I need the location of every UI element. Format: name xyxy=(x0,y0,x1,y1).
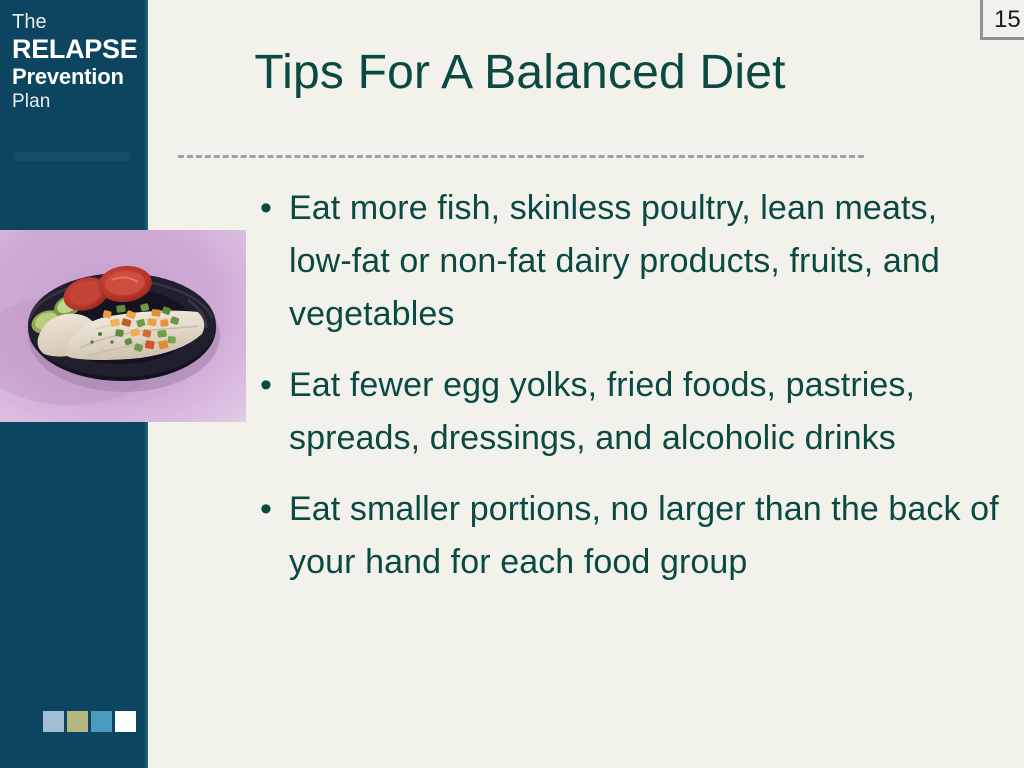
list-item-text: Eat more fish, skinless poultry, lean me… xyxy=(289,182,1000,341)
list-item: • Eat fewer egg yolks, fried foods, past… xyxy=(255,359,1000,465)
swatch-blue xyxy=(91,711,112,732)
slide-number-badge: 15 xyxy=(980,0,1024,40)
list-item: • Eat more fish, skinless poultry, lean … xyxy=(255,182,1000,341)
fish-dinner-photo xyxy=(0,230,246,422)
slide-canvas: The RELAPSE Prevention Plan xyxy=(0,0,1024,768)
logo-line-relapse: RELAPSE xyxy=(12,34,148,64)
logo-line-the: The xyxy=(12,11,148,34)
logo-line-plan: Plan xyxy=(12,90,148,114)
swatch-khaki xyxy=(67,711,88,732)
list-item-text: Eat smaller portions, no larger than the… xyxy=(289,483,1000,589)
slide-number-label: 15 xyxy=(994,6,1021,34)
logo: The RELAPSE Prevention Plan xyxy=(12,11,148,114)
title-divider xyxy=(178,155,864,158)
swatch-white xyxy=(115,711,136,732)
sidebar-accent-band xyxy=(14,152,130,161)
logo-line-prevention: Prevention xyxy=(12,64,148,90)
bullet-marker-icon: • xyxy=(255,483,289,536)
page-title: Tips For A Balanced Diet xyxy=(170,44,870,102)
list-item: • Eat smaller portions, no larger than t… xyxy=(255,483,1000,589)
bullet-list: • Eat more fish, skinless poultry, lean … xyxy=(255,182,1000,607)
bullet-marker-icon: • xyxy=(255,359,289,412)
bullet-marker-icon: • xyxy=(255,182,289,235)
list-item-text: Eat fewer egg yolks, fried foods, pastri… xyxy=(289,359,1000,465)
swatch-strip xyxy=(43,711,136,732)
swatch-light-blue xyxy=(43,711,64,732)
